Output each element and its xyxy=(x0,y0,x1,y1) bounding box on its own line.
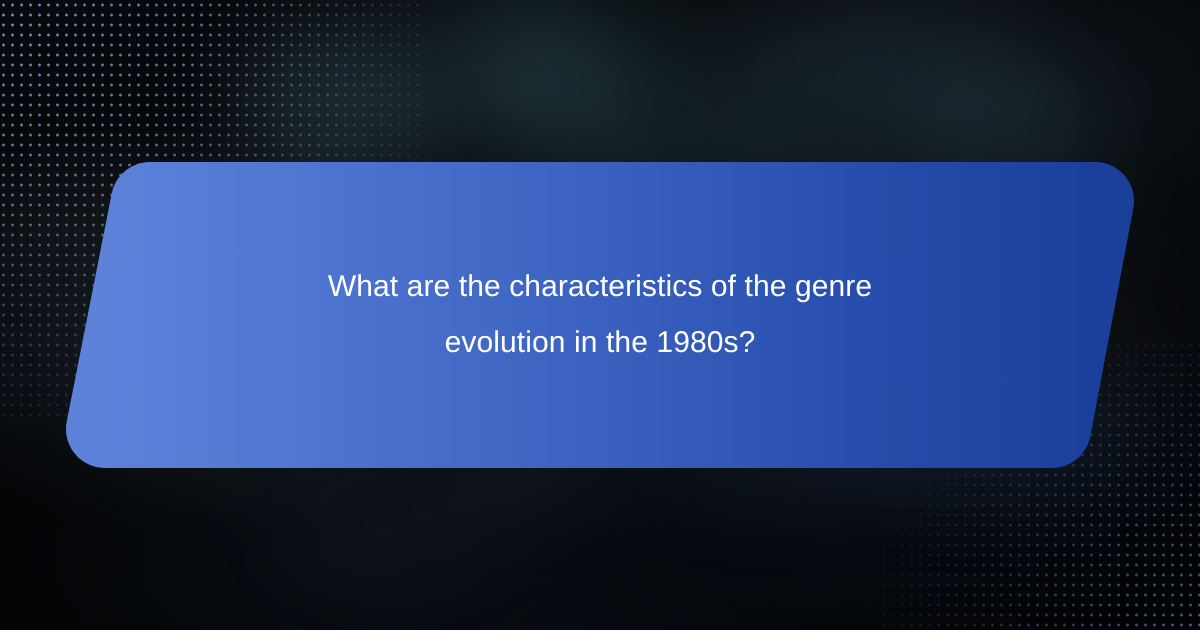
quote-text-block: What are the characteristics of the genr… xyxy=(160,200,1040,430)
quote-line-1: What are the characteristics of the genr… xyxy=(328,259,872,315)
quote-line-2: evolution in the 1980s? xyxy=(445,315,756,371)
social-card-canvas: What are the characteristics of the genr… xyxy=(0,0,1200,630)
quote-card: What are the characteristics of the genr… xyxy=(0,0,1200,630)
